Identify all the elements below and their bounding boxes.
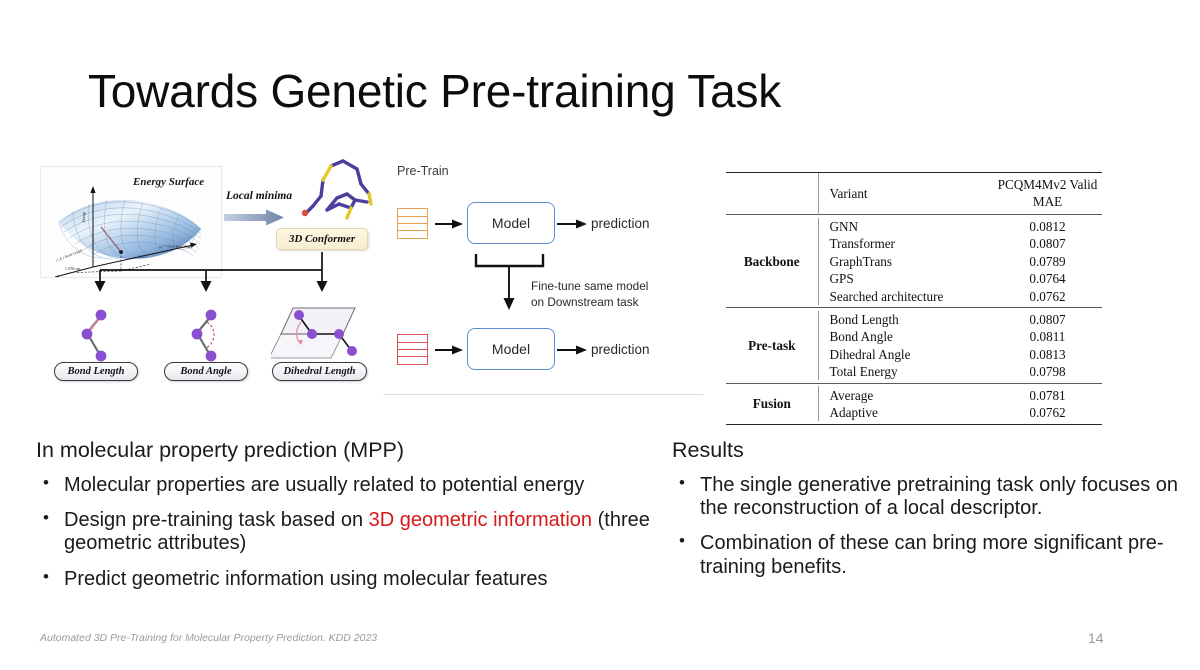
left-bullet-1-part-0: Design pre-training task based on xyxy=(64,509,369,531)
figure-pretrain-pipeline: Pre-Train Model prediction xyxy=(383,160,705,398)
table-cell-variant: Transformer xyxy=(818,235,993,252)
table-cell-value: 0.0764 xyxy=(993,270,1102,287)
table-bottom-rule-cell xyxy=(726,424,1102,425)
table-header-row: VariantPCQM4Mv2 Valid MAE xyxy=(726,173,1102,215)
geometry-item-bond-length: Bond Length xyxy=(54,304,164,371)
right-bullet-list: The single generative pretraining task o… xyxy=(672,474,1182,579)
figure-molecular-geometry: Energy φ ( ° ) O-S-Bond Angle r ( Å ) Bo… xyxy=(36,164,381,404)
geometry-label-0: Bond Length xyxy=(68,366,125,377)
table-row: FusionAverage0.0781 xyxy=(726,386,1102,403)
right-text-column: Results The single generative pretrainin… xyxy=(672,438,1182,591)
footer-citation: Automated 3D Pre-Training for Molecular … xyxy=(40,632,377,644)
figure-divider-rule xyxy=(383,394,703,395)
slide-canvas: Towards Genetic Pre-training Task xyxy=(0,0,1200,670)
branch-tree-icon xyxy=(36,244,381,294)
table-cell-variant: Bond Angle xyxy=(818,328,993,345)
right-bullet-0: The single generative pretraining task o… xyxy=(672,474,1182,520)
table-group-label-1: Pre-task xyxy=(726,311,818,381)
geometry-item-dihedral: Dihedral Length xyxy=(271,300,381,371)
left-text-column: In molecular property prediction (MPP) M… xyxy=(36,438,656,603)
results-table: VariantPCQM4Mv2 Valid MAEBackboneGNN0.08… xyxy=(726,172,1102,425)
table-cell-value: 0.0789 xyxy=(993,253,1102,270)
table-group-label-0: Backbone xyxy=(726,218,818,305)
geometry-label-pill-2: Dihedral Length xyxy=(272,362,367,381)
right-bullet-1-part-0: Combination of these can bring more sign… xyxy=(700,532,1164,577)
right-column-heading: Results xyxy=(672,438,1182,463)
model-box-pretrain: Model xyxy=(467,202,555,244)
local-minima-arrow-icon xyxy=(224,209,286,227)
table-row: BackboneGNN0.0812 xyxy=(726,218,1102,235)
table-cell-value: 0.0807 xyxy=(993,311,1102,328)
finetune-note: Fine-tune same model on Downstream task xyxy=(531,278,648,311)
left-bullet-0-part-0: Molecular properties are usually related… xyxy=(64,474,584,496)
results-table-grid: VariantPCQM4Mv2 Valid MAEBackboneGNN0.08… xyxy=(726,172,1102,425)
geometry-item-bond-angle: Bond Angle xyxy=(164,304,274,371)
finetune-line-2: on Downstream task xyxy=(531,294,648,310)
table-cell-value: 0.0798 xyxy=(993,363,1102,380)
dihedral-diagram-icon xyxy=(271,300,381,366)
left-bullet-0: Molecular properties are usually related… xyxy=(36,474,656,497)
left-bullet-2: Predict geometric information using mole… xyxy=(36,568,656,591)
geometry-label-2: Dihedral Length xyxy=(283,366,355,377)
table-cell-variant: Average xyxy=(818,386,993,403)
table-cell-value: 0.0813 xyxy=(993,346,1102,363)
finetune-line-1: Fine-tune same model xyxy=(531,278,648,294)
table-header-variant: Variant xyxy=(818,173,993,215)
left-bullet-1-part-1: 3D geometric information xyxy=(369,509,592,531)
page-title: Towards Genetic Pre-training Task xyxy=(88,64,781,118)
table-cell-variant: Bond Length xyxy=(818,311,993,328)
right-bullet-1: Combination of these can bring more sign… xyxy=(672,532,1182,578)
table-cell-variant: GPS xyxy=(818,270,993,287)
table-bottom-rule xyxy=(726,424,1102,425)
footer-page-number: 14 xyxy=(1088,630,1104,646)
table-cell-variant: Total Energy xyxy=(818,363,993,380)
bond-length-diagram-icon xyxy=(54,304,150,366)
model-label-bottom: Model xyxy=(492,341,530,357)
local-minima-label: Local minima xyxy=(226,190,292,202)
table-cell-variant: Adaptive xyxy=(818,404,993,421)
left-column-heading: In molecular property prediction (MPP) xyxy=(36,438,656,463)
model-box-finetune: Model xyxy=(467,328,555,370)
geometry-label-pill-1: Bond Angle xyxy=(164,362,248,381)
table-cell-variant: GraphTrans xyxy=(818,253,993,270)
table-cell-value: 0.0762 xyxy=(993,287,1102,304)
table-header-group xyxy=(726,173,818,215)
table-cell-variant: GNN xyxy=(818,218,993,235)
energy-surface-label: Energy Surface xyxy=(133,176,204,188)
table-group-label-2: Fusion xyxy=(726,386,818,421)
table-row: Pre-taskBond Length0.0807 xyxy=(726,311,1102,328)
right-bullet-0-part-0: The single generative pretraining task o… xyxy=(700,474,1178,519)
geometry-label-pill-0: Bond Length xyxy=(54,362,138,381)
bond-angle-diagram-icon xyxy=(164,304,260,366)
table-cell-variant: Searched architecture xyxy=(818,287,993,304)
downstream-data-icon xyxy=(397,334,428,365)
left-bullet-1: Design pre-training task based on 3D geo… xyxy=(36,509,656,555)
table-cell-value: 0.0811 xyxy=(993,328,1102,345)
table-cell-value: 0.0781 xyxy=(993,386,1102,403)
table-header-metric: PCQM4Mv2 Valid MAE xyxy=(993,173,1102,215)
model-label-top: Model xyxy=(492,215,530,231)
prediction-label-top: prediction xyxy=(591,216,650,231)
svg-text:Energy: Energy xyxy=(82,211,86,222)
table-cell-value: 0.0762 xyxy=(993,404,1102,421)
table-cell-value: 0.0812 xyxy=(993,218,1102,235)
table-cell-value: 0.0807 xyxy=(993,235,1102,252)
geometry-label-1: Bond Angle xyxy=(180,366,231,377)
molecule-structure-icon xyxy=(291,158,387,232)
prediction-label-bottom: prediction xyxy=(591,342,650,357)
left-bullet-list: Molecular properties are usually related… xyxy=(36,474,656,591)
table-cell-variant: Dihedral Angle xyxy=(818,346,993,363)
left-bullet-2-part-0: Predict geometric information using mole… xyxy=(64,568,548,590)
